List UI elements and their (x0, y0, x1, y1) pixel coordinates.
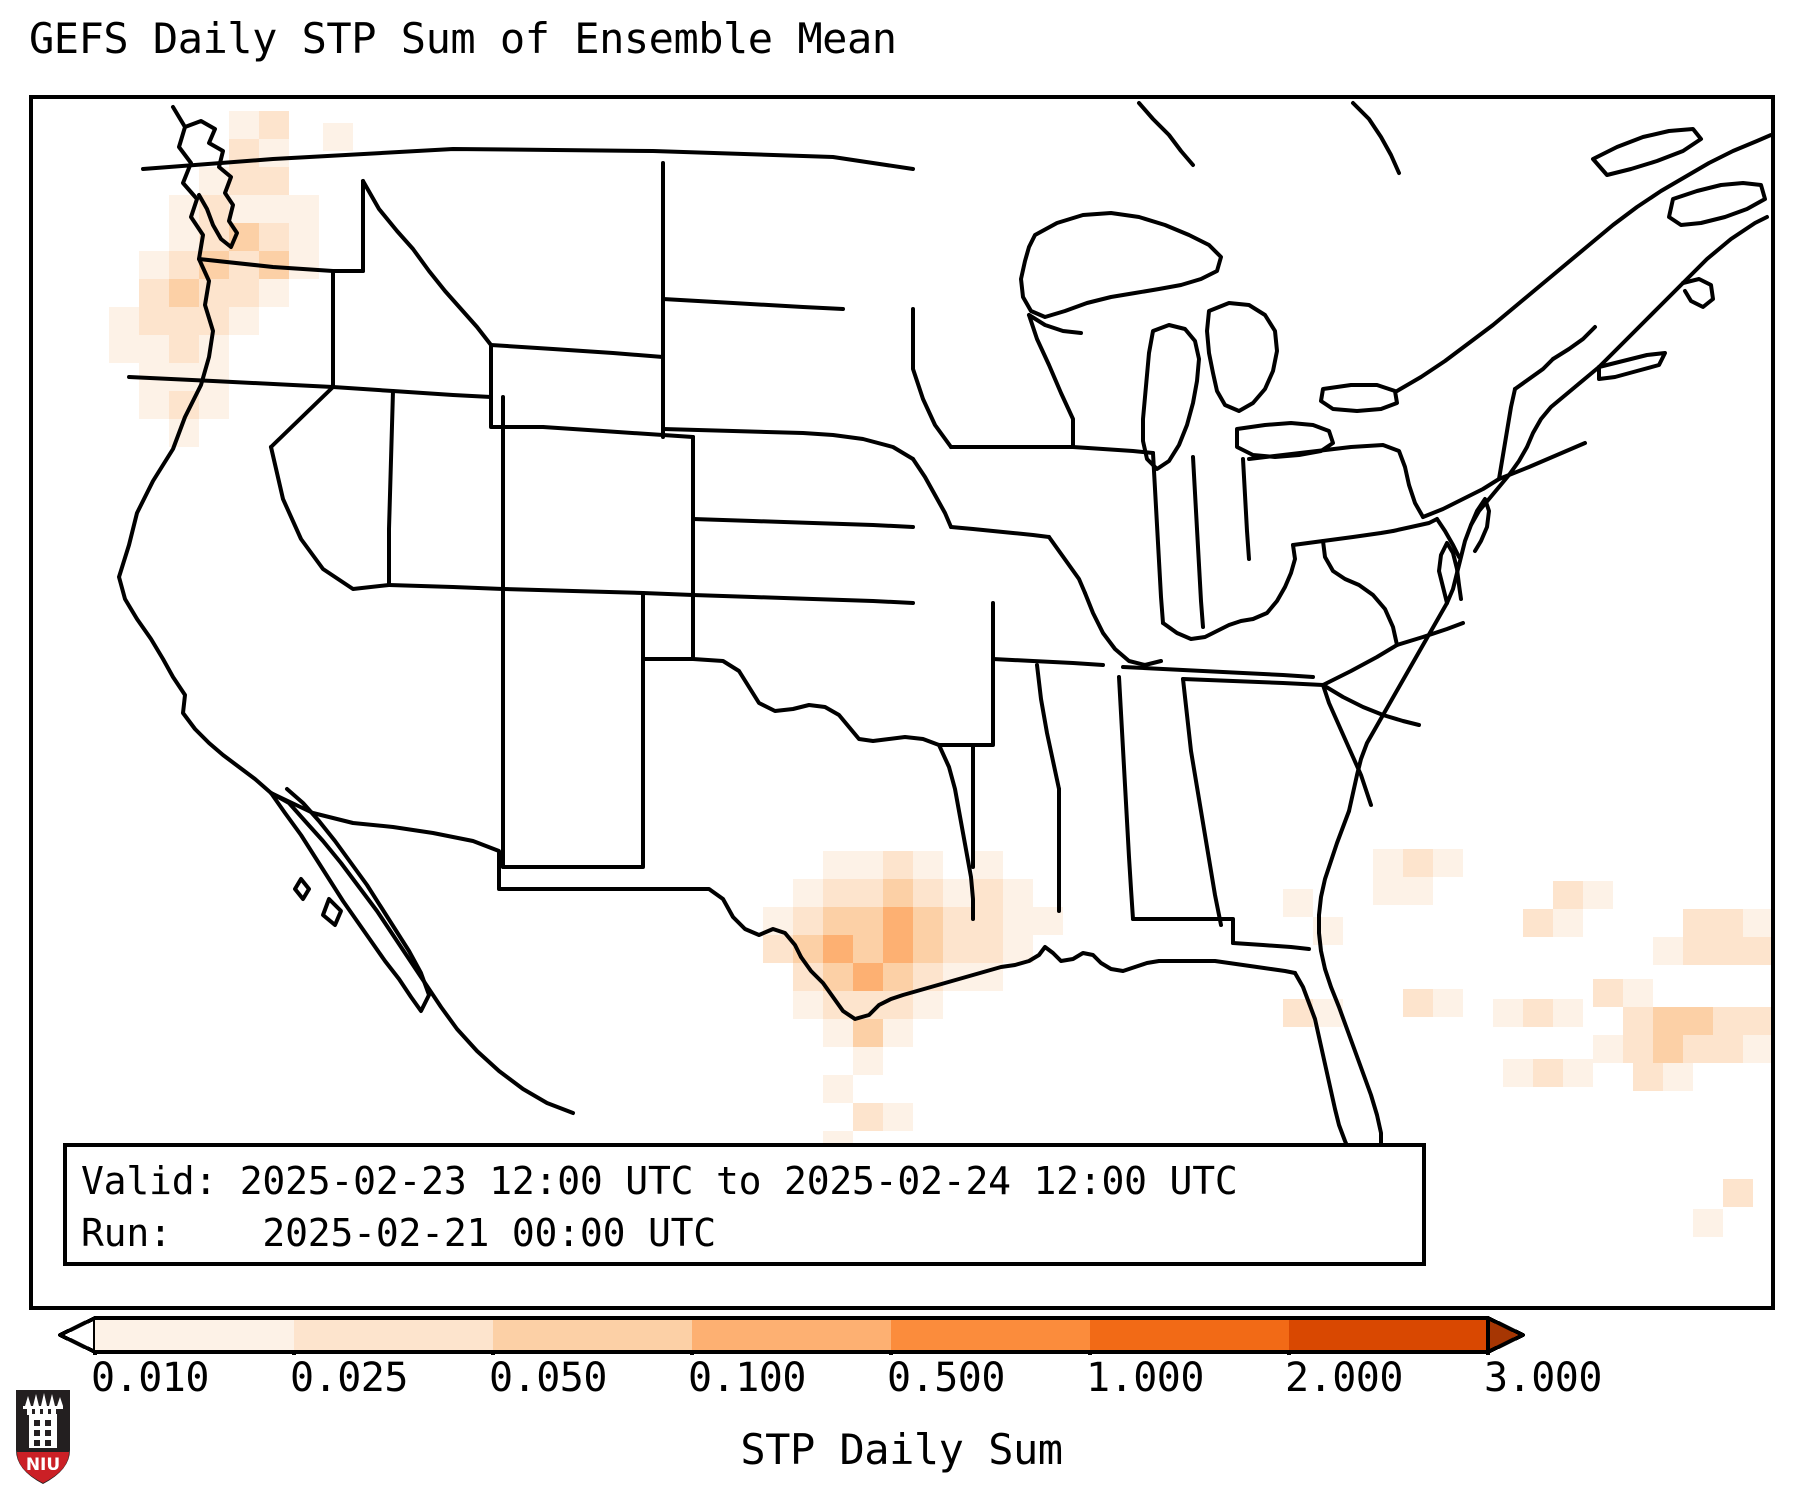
border-pa-ny (1249, 445, 1423, 517)
border-in-ky (1163, 619, 1253, 639)
colorbar-band-2 (493, 1318, 692, 1352)
border-mn-wi (1029, 315, 1073, 447)
colorbar-tick-labels: 0.010 0.025 0.050 0.100 0.500 1.000 2.00… (0, 1358, 1803, 1408)
coast-hudson-fragment (1353, 103, 1399, 173)
border-wi-il (1073, 447, 1153, 453)
border-nv-ut (389, 391, 393, 585)
border-vt-nh (1515, 359, 1553, 389)
colorbar-axis-title: STP Daily Sum (0, 1425, 1803, 1474)
border-ky-tn (1123, 667, 1313, 677)
border-ia-mo (951, 527, 1049, 537)
colorbar-band-6 (1289, 1318, 1488, 1352)
border-ut-az (389, 585, 503, 589)
border-ne-ks (693, 519, 913, 527)
colorbar-band-4 (891, 1318, 1090, 1352)
border-in-oh (1193, 457, 1203, 627)
coast-delmarva (1471, 499, 1489, 551)
border-ny-ne (1499, 389, 1515, 479)
forecast-info-box: Valid: 2025-02-23 12:00 UTC to 2025-02-2… (63, 1143, 1426, 1266)
border-mo-ar (993, 659, 1103, 665)
border-wv-pa (1293, 531, 1393, 545)
colorbar-band-0 (95, 1318, 294, 1352)
border-al-ga (1183, 679, 1221, 925)
niu-logo: NIU (14, 1388, 72, 1486)
border-al-fl (1133, 919, 1233, 943)
border-ms-al (1119, 677, 1133, 919)
border-id-wy (491, 345, 543, 427)
border-tn-ga-nc (1183, 679, 1323, 685)
colorbar (0, 1315, 1803, 1355)
border-nd-sd (663, 299, 843, 309)
colorbar-tick-label-2: 0.050 (489, 1358, 607, 1398)
border-sd-ne (663, 429, 913, 459)
border-ia-il (1049, 537, 1085, 593)
colorbar-band-5 (1090, 1318, 1289, 1352)
colorbar-tick-label-7: 3.000 (1484, 1358, 1602, 1398)
border-oh-wv-ky (1253, 545, 1295, 619)
border-id-mt (363, 181, 491, 345)
border-va-wv (1323, 541, 1397, 645)
colorbar-tick-label-0: 0.010 (91, 1358, 209, 1398)
page-title: GEFS Daily STP Sum of Ensemble Mean (29, 18, 897, 60)
run-time-line: Run: 2025-02-21 00:00 UTC (81, 1207, 1422, 1259)
lake-huron (1207, 303, 1277, 411)
border-il-mo-ky (1085, 593, 1161, 665)
coast-florida (1295, 811, 1381, 1175)
colorbar-tick-label-5: 1.000 (1086, 1358, 1204, 1398)
colorbar-band-1 (294, 1318, 493, 1352)
lake-superior (1021, 213, 1221, 317)
coast-gaspe (1593, 129, 1701, 175)
niu-banner-text: NIU (26, 1455, 60, 1475)
border-ok-tx (643, 659, 939, 745)
border-mi-wi (1029, 315, 1081, 333)
border-ok-ar-mo (939, 603, 993, 745)
border-ga-fl (1233, 943, 1309, 949)
lake-ontario (1321, 385, 1397, 411)
border-mn-sd (913, 309, 951, 447)
lake-michigan (1143, 325, 1199, 469)
colorbar-band-3 (692, 1318, 891, 1352)
border-co-nm (503, 589, 693, 595)
border-ks-ok (693, 595, 913, 603)
valid-time-line: Valid: 2025-02-23 12:00 UTC to 2025-02-2… (81, 1155, 1422, 1207)
colorbar-tick-label-6: 2.000 (1285, 1358, 1403, 1398)
colorbar-under-arrow (60, 1318, 95, 1352)
border-ma-ct-ri (1499, 443, 1585, 479)
border-mt-wy (491, 345, 663, 357)
border-nc-va (1397, 623, 1463, 645)
border-nv-ca (271, 387, 333, 447)
border-md-de (1437, 519, 1459, 557)
coast-st-lawrence (1397, 135, 1771, 391)
coast-mexico-pacific (271, 793, 573, 1113)
colorbar-tick-label-3: 0.100 (688, 1358, 806, 1398)
border-id-nv-ut (333, 387, 491, 397)
colorbar-over-arrow (1488, 1318, 1523, 1352)
border-oh-pa (1243, 459, 1249, 559)
border-nv-az (271, 447, 389, 589)
colorbar-tick-label-1: 0.025 (290, 1358, 408, 1398)
border-nh-me (1553, 327, 1595, 359)
border-ne-ia (913, 459, 951, 527)
map-frame: Valid: 2025-02-23 12:00 UTC to 2025-02-2… (29, 95, 1775, 1310)
coast-cape-cod (1683, 279, 1713, 307)
border-il-in (1153, 453, 1163, 623)
border-ar-ms (1037, 665, 1059, 789)
stp-shading-layer (109, 111, 1771, 1237)
coast-nova-scotia (1669, 183, 1765, 225)
islands-sea-of-cortez (295, 879, 309, 899)
border-ga-sc (1323, 685, 1371, 805)
border-canada-north (1139, 103, 1193, 165)
border-nm-tx (503, 593, 643, 867)
border-tn-nc (1323, 645, 1397, 685)
colorbar-tick-label-4: 0.500 (887, 1358, 1005, 1398)
border-pa-md (1393, 519, 1437, 531)
map-canvas (33, 99, 1771, 1306)
island-tiburon (323, 899, 341, 925)
